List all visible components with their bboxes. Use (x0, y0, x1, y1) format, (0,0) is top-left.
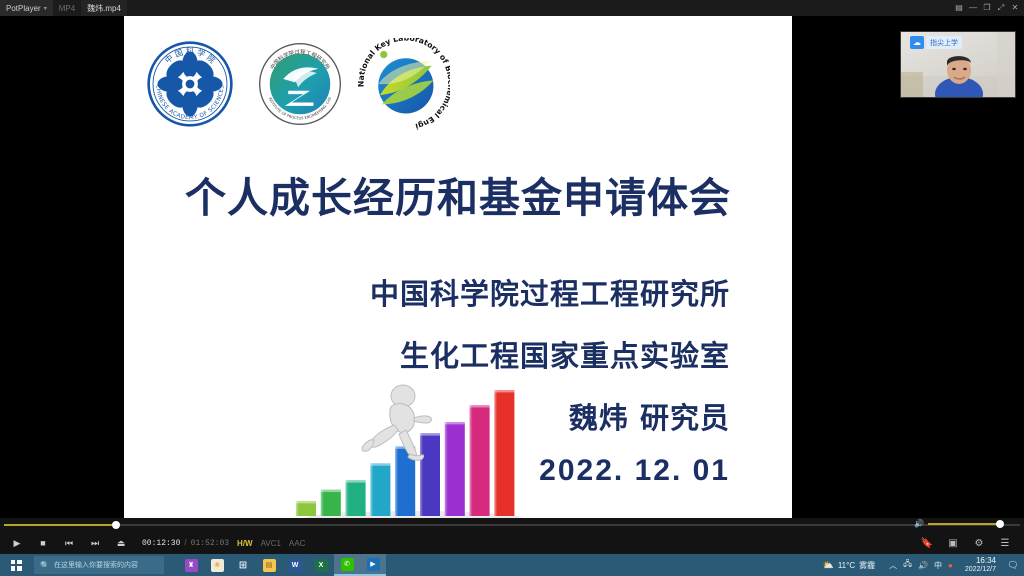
growth-bar-chart-graphic (286, 378, 532, 526)
file-name-label: 魏炜.mp4 (81, 0, 127, 16)
format-chip: MP4 (53, 0, 81, 16)
bar-highlight (395, 446, 403, 516)
wechat-icon: ✆ (341, 558, 354, 571)
transport-row: ▶ ■ ⏮ ⏭ ⏏ 00:12:30 / 01:52:03 H/W AVC1 A… (0, 532, 1024, 554)
start-button[interactable] (0, 554, 32, 576)
bar-highlight (321, 490, 329, 516)
eject-button[interactable]: ⏏ (108, 532, 134, 554)
play-button[interactable]: ▶ (4, 532, 30, 554)
search-placeholder: 在这里输入你要搜索的内容 (54, 560, 138, 570)
taskbar-search-box[interactable]: 🔍 在这里输入你要搜索的内容 (34, 556, 164, 574)
window-controls: ▤ — ❐ ⤢ ✕ (952, 0, 1024, 16)
photos-icon: ❀ (211, 559, 224, 572)
taskbar-item-app-purple[interactable]: ♜ (178, 554, 204, 576)
taskbar-item-wechat[interactable]: ✆ (334, 554, 360, 576)
slide-subtitle-laboratory: 生化工程国家重点实验室 (124, 333, 792, 375)
excel-icon: X (315, 559, 328, 572)
total-time: 01:52:03 (191, 539, 229, 548)
seek-track[interactable] (4, 524, 1020, 526)
maximize-button[interactable]: ❐ (980, 0, 994, 16)
taskbar-item-file-explorer[interactable]: ▤ (256, 554, 282, 576)
bar-top-edge (296, 501, 316, 503)
word-icon: W (289, 559, 302, 572)
next-button[interactable]: ⏭ (82, 532, 108, 554)
presentation-slide: 中 国 科 学 院 CHINESE ACADEMY OF SCIENCES (124, 16, 792, 532)
bar-top-edge (420, 433, 440, 435)
potplayer-menu-button[interactable]: PotPlayer ▾ (0, 0, 53, 16)
bar-highlight (445, 422, 453, 516)
weather-description: 雾霾 (859, 560, 875, 571)
ime-indicator[interactable]: 中 (934, 560, 942, 571)
video-codec-tag[interactable]: AVC1 (261, 539, 281, 548)
bar-top-edge (346, 480, 366, 482)
bar-highlight (494, 390, 502, 516)
taskbar-item-word[interactable]: W (282, 554, 308, 576)
logo-institute-of-process-engineering: 中国科学院过程工程研究所 INSTITUTE OF PROCESS ENGINE… (258, 42, 342, 126)
cloud-icon: ☁ (910, 36, 924, 49)
clock-date: 2022/12/7 (965, 566, 996, 573)
webcam-overlay[interactable]: ☁ 指尖上学 (900, 31, 1016, 98)
volume-handle[interactable] (996, 520, 1004, 528)
slide-logo-row: 中 国 科 学 院 CHINESE ACADEMY OF SCIENCES (146, 38, 446, 130)
minimize-to-tray-button[interactable]: ▤ (952, 0, 966, 16)
fullscreen-button[interactable]: ⤢ (994, 0, 1008, 16)
network-icon[interactable]: 🖧 (903, 558, 912, 572)
sogou-ime-icon[interactable]: ● (948, 561, 953, 570)
volume-fill (928, 523, 1000, 525)
bar-top-edge (494, 390, 514, 392)
taskbar-weather[interactable]: ⛅ 11°C 雾霾 (815, 560, 884, 571)
taskbar-item-potplayer[interactable]: ▶ (360, 554, 386, 576)
potplayer-window: PotPlayer ▾ MP4 魏炜.mp4 ▤ — ❐ ⤢ ✕ (0, 0, 1024, 576)
window-title-bar: PotPlayer ▾ MP4 魏炜.mp4 ▤ — ❐ ⤢ ✕ (0, 0, 1024, 16)
audio-codec-tag[interactable]: AAC (289, 539, 305, 548)
logo-chinese-academy-of-sciences: 中 国 科 学 院 CHINESE ACADEMY OF SCIENCES (146, 40, 234, 128)
seek-handle[interactable] (112, 521, 120, 529)
task-view-icon: ⊞ (237, 559, 250, 572)
slide-title: 个人成长经历和基金申请体会 (124, 164, 792, 224)
screenshot-button[interactable]: ▣ (940, 532, 966, 554)
search-icon: 🔍 (40, 561, 50, 570)
app-purple-icon: ♜ (185, 559, 198, 572)
bar-top-edge (321, 490, 341, 492)
taskbar-pinned-items: ♜ ❀ ⊞ ▤ W X ✆ ▶ (178, 554, 386, 576)
show-hidden-icons-button[interactable]: ︿ (889, 560, 897, 571)
stop-button[interactable]: ■ (30, 532, 56, 554)
bar-highlight (346, 480, 354, 516)
bar-top-edge (445, 422, 465, 424)
settings-button[interactable]: ⚙ (966, 532, 992, 554)
webcam-badge: ☁ 指尖上学 (910, 36, 962, 49)
weather-temperature: 11°C (838, 561, 855, 570)
volume-tray-icon[interactable]: 🔊 (918, 561, 928, 570)
partly-cloudy-icon: ⛅ (823, 560, 834, 571)
close-button[interactable]: ✕ (1008, 0, 1022, 16)
clock-time: 16:34 (976, 557, 996, 565)
system-tray: ︿ 🖧 🔊 中 ● (883, 558, 959, 572)
previous-button[interactable]: ⏮ (56, 532, 82, 554)
potplayer-icon: ▶ (367, 558, 380, 571)
bar-top-edge (370, 463, 390, 465)
time-display[interactable]: 00:12:30 / 01:52:03 (142, 538, 229, 548)
bar-highlight (420, 433, 428, 516)
video-canvas[interactable]: 中 国 科 学 院 CHINESE ACADEMY OF SCIENCES (0, 16, 1024, 518)
taskbar-clock[interactable]: 16:34 2022/12/7 (959, 557, 1002, 573)
logo-national-key-laboratory-of-biochemical-engineering: National Key Laboratory of Biochemical E… (358, 38, 450, 130)
seek-progress-fill (4, 524, 116, 526)
seek-bar[interactable] (4, 521, 1020, 529)
notification-icon[interactable]: 🗨 (1002, 554, 1024, 576)
windows-logo-icon (11, 560, 22, 571)
potplayer-menu-label: PotPlayer (6, 4, 41, 13)
volume-control[interactable]: 🔊 (914, 519, 1010, 529)
webcam-badge-label: 指尖上学 (926, 36, 962, 49)
windows-taskbar: 🔍 在这里输入你要搜索的内容 ♜ ❀ ⊞ ▤ W X ✆ (0, 554, 1024, 576)
time-separator: / (184, 538, 186, 547)
minimize-button[interactable]: — (966, 0, 980, 16)
bookmark-button[interactable]: 🔖 (914, 532, 940, 554)
bar-highlight (470, 405, 478, 516)
bar-top-edge (470, 405, 490, 407)
volume-icon[interactable]: 🔊 (914, 519, 924, 528)
slide-subtitle-institute: 中国科学院过程工程研究所 (124, 271, 792, 313)
taskbar-item-photos[interactable]: ❀ (204, 554, 230, 576)
taskbar-item-excel[interactable]: X (308, 554, 334, 576)
bar-highlight (370, 463, 378, 516)
chevron-down-icon: ▾ (44, 5, 47, 12)
taskbar-item-task-view[interactable]: ⊞ (230, 554, 256, 576)
current-time: 00:12:30 (142, 539, 180, 548)
decoder-tag[interactable]: H/W (237, 539, 253, 548)
file-explorer-icon: ▤ (263, 559, 276, 572)
playlist-button[interactable]: ☰ (992, 532, 1018, 554)
player-control-bar: ▶ ■ ⏮ ⏭ ⏏ 00:12:30 / 01:52:03 H/W AVC1 A… (0, 518, 1024, 554)
